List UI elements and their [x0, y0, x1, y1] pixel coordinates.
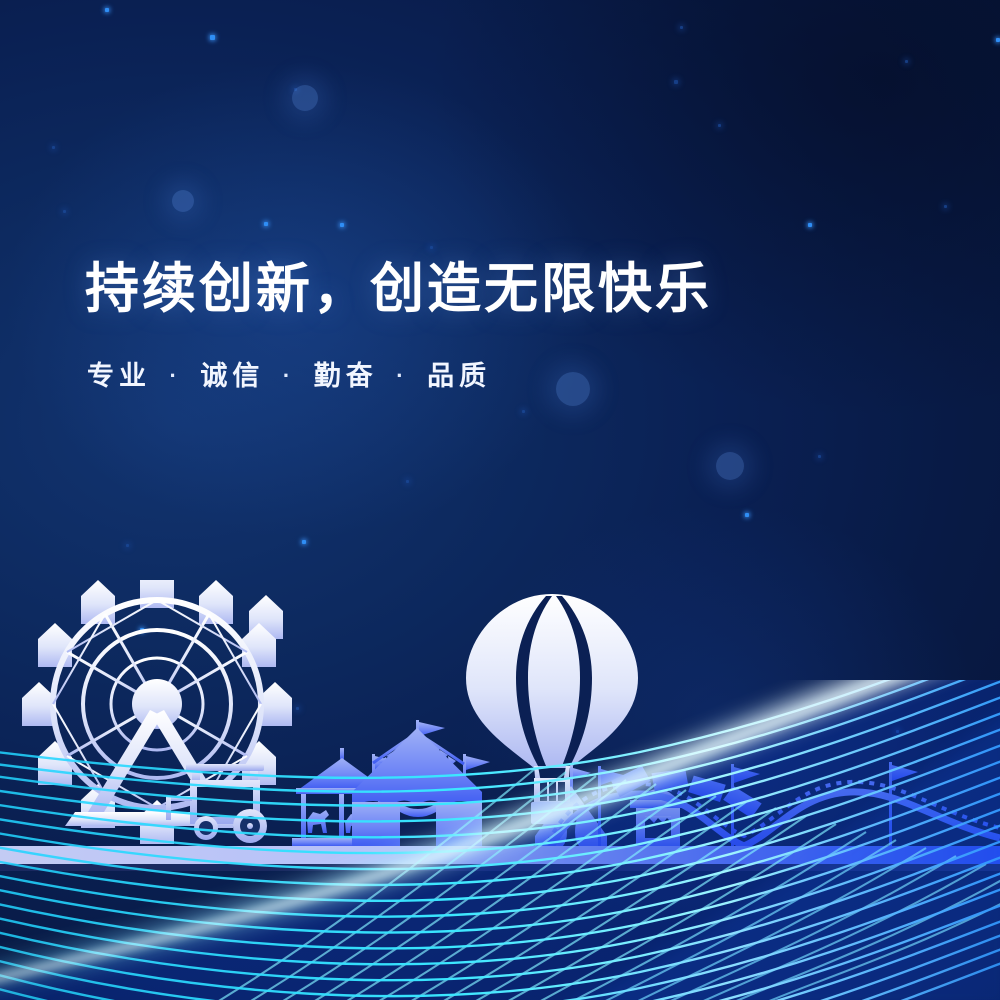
- star-dot: [406, 480, 409, 483]
- star-dot: [292, 85, 318, 111]
- subtitle-item-2: 勤奋: [314, 361, 378, 391]
- star-dot: [126, 544, 129, 547]
- hero-copy: 持续创新，创造无限快乐 专业 · 诚信 · 勤奋 · 品质: [85, 258, 945, 393]
- poster-canvas: 持续创新，创造无限快乐 专业 · 诚信 · 勤奋 · 品质: [0, 0, 1000, 1000]
- star-dot: [716, 452, 744, 480]
- ground-shadow: [0, 864, 1000, 871]
- star-dot: [105, 8, 109, 12]
- subtitle-separator-2: ·: [390, 363, 414, 388]
- star-dot: [808, 223, 812, 227]
- big-top-tent: [352, 720, 490, 846]
- park-svg: [0, 580, 1000, 1000]
- small-tent-pole: [570, 766, 573, 790]
- subtitle-separator-1: ·: [277, 363, 301, 388]
- ground-strip: [0, 846, 1000, 864]
- food-cart-canopy: [186, 764, 264, 771]
- subtitle-item-1: 诚信: [200, 361, 264, 391]
- star-dot: [718, 124, 721, 127]
- star-dot: [522, 410, 525, 413]
- star-dot: [674, 80, 678, 84]
- page-title: 持续创新，创造无限快乐: [85, 258, 945, 322]
- star-dot: [264, 222, 268, 226]
- small-tent-flag: [573, 768, 591, 779]
- subtitle-item-3: 品质: [427, 361, 491, 391]
- subtitle-separator-0: ·: [164, 363, 188, 388]
- star-dot: [430, 246, 433, 249]
- star-dot: [210, 35, 215, 40]
- star-dot: [680, 26, 683, 29]
- amusement-park-silhouette: [0, 580, 1000, 1000]
- star-dot: [818, 455, 821, 458]
- star-dot: [745, 513, 749, 517]
- star-dot: [996, 38, 1000, 42]
- star-dot: [294, 88, 297, 91]
- big-top-canopy: [352, 728, 482, 806]
- roller-coaster: [548, 762, 1000, 852]
- balloon-envelope: [466, 594, 638, 768]
- star-dot: [944, 205, 947, 208]
- star-dot: [905, 60, 908, 63]
- star-dot: [172, 190, 194, 212]
- ticket-booth-window: [645, 816, 671, 838]
- star-dot: [302, 540, 306, 544]
- star-dot: [340, 223, 344, 227]
- star-dot: [63, 210, 66, 213]
- hero-subtitle: 专业 · 诚信 · 勤奋 · 品质: [87, 354, 945, 393]
- subtitle-item-0: 专业: [87, 361, 151, 391]
- star-dot: [52, 146, 55, 149]
- hot-air-balloon: [466, 594, 638, 824]
